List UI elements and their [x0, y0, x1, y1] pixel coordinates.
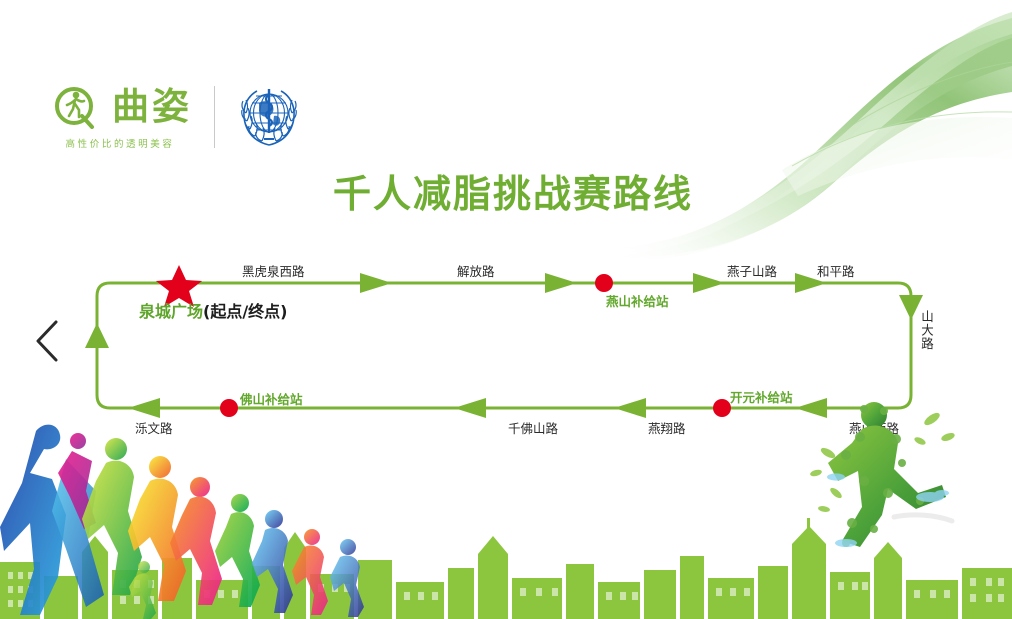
station-dot-yanshan [595, 274, 613, 292]
start-point-name: 泉城广场 [139, 302, 203, 321]
route-label-yanxianglu: 燕翔路 [648, 418, 686, 437]
station-markers [220, 274, 731, 417]
start-point-note: (起点/终点) [203, 302, 287, 321]
route-label-jiefanglu: 解放路 [457, 261, 495, 280]
who-emblem-icon [235, 83, 303, 151]
route-label-qianfoshanlu: 千佛山路 [508, 418, 558, 437]
route-label-yanshanxilu: 燕山西路 [849, 418, 899, 437]
brand-q-icon [48, 85, 106, 129]
brand-name: 曲姿 [112, 88, 192, 125]
route-direction-arrows [85, 273, 923, 418]
route-label-heihuquanxilu: 黑虎泉西路 [242, 261, 305, 280]
leaf-runner-graphic [802, 397, 972, 557]
poster-canvas: 曲姿 高性价比的透明美容 [0, 0, 1012, 619]
station-label-foshan: 佛山补给站 [240, 389, 303, 408]
route-label-shandalu: 山大路 [919, 310, 933, 351]
station-label-kaiyuan: 开元补给站 [730, 387, 793, 406]
bottom-artwork [0, 389, 1012, 619]
route-label-luowenlu: 泺文路 [135, 418, 173, 437]
station-dot-kaiyuan [713, 399, 731, 417]
brand-tagline: 高性价比的透明美容 [66, 136, 175, 150]
chevron-left-icon[interactable] [30, 318, 64, 364]
logo-divider [214, 86, 215, 148]
start-point-label: 泉城广场(起点/终点) [139, 298, 288, 322]
route-label-yanzishanlu: 燕子山路 [727, 261, 777, 280]
station-dot-foshan [220, 399, 238, 417]
start-point-star [156, 265, 202, 307]
station-label-yanshan: 燕山补给站 [606, 291, 669, 310]
route-label-hepinglu: 和平路 [817, 261, 855, 280]
page-title: 千人减脂挑战赛路线 [333, 163, 693, 218]
runner-silhouettes-graphic [0, 419, 380, 619]
green-ribbon-decoration [592, 0, 1012, 300]
city-skyline-graphic [0, 514, 1012, 619]
brand-logo-quzi: 曲姿 高性价比的透明美容 [48, 85, 192, 150]
header-logos: 曲姿 高性价比的透明美容 [48, 78, 303, 156]
